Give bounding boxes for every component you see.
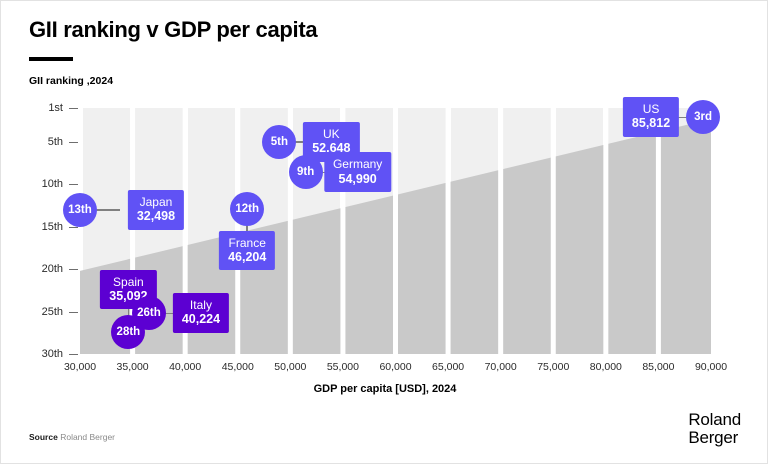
y-tick-mark bbox=[69, 354, 78, 355]
data-label-us[interactable]: US85,812 bbox=[623, 97, 679, 137]
x-tick-label: 50,000 bbox=[274, 361, 306, 373]
title-underline-rule bbox=[29, 57, 73, 61]
gdp-value: 54,990 bbox=[333, 172, 382, 187]
country-name: Japan bbox=[137, 195, 175, 209]
data-label-germany[interactable]: Germany54,990 bbox=[324, 153, 391, 193]
source-label: Source bbox=[29, 432, 58, 442]
data-label-italy[interactable]: Italy40,224 bbox=[173, 293, 229, 333]
country-name: France bbox=[228, 236, 266, 250]
y-tick-mark bbox=[69, 184, 78, 185]
column-gutter bbox=[446, 108, 451, 354]
country-name: Spain bbox=[109, 275, 147, 289]
column-gutter bbox=[551, 108, 556, 354]
gdp-value: 40,224 bbox=[182, 312, 220, 327]
country-name: Germany bbox=[333, 158, 382, 172]
column-gutter bbox=[393, 108, 398, 354]
data-label-japan[interactable]: Japan32,498 bbox=[128, 190, 184, 230]
column-gutter bbox=[498, 108, 503, 354]
x-tick-label: 35,000 bbox=[117, 361, 149, 373]
y-tick-label: 5th bbox=[3, 136, 63, 148]
brand-line-2: Berger bbox=[688, 429, 741, 447]
data-label-france[interactable]: France46,204 bbox=[219, 231, 275, 271]
y-tick-label: 1st bbox=[3, 102, 63, 114]
y-tick-label: 10th bbox=[3, 178, 63, 190]
y-tick-mark bbox=[69, 227, 78, 228]
y-tick-mark bbox=[69, 312, 78, 313]
country-name: US bbox=[632, 102, 670, 116]
x-axis-title: GDP per capita [USD], 2024 bbox=[1, 383, 768, 395]
rank-badge-uk[interactable]: 5th bbox=[262, 125, 296, 159]
gdp-value: 85,812 bbox=[632, 117, 670, 132]
rank-badge-italy[interactable]: 26th bbox=[132, 296, 166, 330]
source-value: Roland Berger bbox=[60, 432, 115, 442]
x-tick-label: 60,000 bbox=[379, 361, 411, 373]
roland-berger-logo: Roland Berger bbox=[688, 411, 741, 448]
y-axis-title: GII ranking ,2024 bbox=[29, 75, 113, 87]
gdp-value: 32,498 bbox=[137, 209, 175, 224]
y-tick-label: 20th bbox=[3, 263, 63, 275]
x-tick-label: 65,000 bbox=[432, 361, 464, 373]
plot-area: Japan32,49813thSpain35,09228thItaly40,22… bbox=[80, 108, 711, 354]
rank-badge-germany[interactable]: 9th bbox=[289, 155, 323, 189]
x-tick-label: 40,000 bbox=[169, 361, 201, 373]
x-tick-label: 55,000 bbox=[327, 361, 359, 373]
y-tick-label: 15th bbox=[3, 221, 63, 233]
brand-line-1: Roland bbox=[688, 411, 741, 429]
x-tick-label: 70,000 bbox=[485, 361, 517, 373]
rank-badge-japan[interactable]: 13th bbox=[63, 193, 97, 227]
x-tick-label: 85,000 bbox=[642, 361, 674, 373]
y-tick-label: 30th bbox=[3, 348, 63, 360]
rank-badge-us[interactable]: 3rd bbox=[686, 100, 720, 134]
y-tick-mark bbox=[69, 269, 78, 270]
country-name: UK bbox=[312, 127, 350, 141]
column-gutter bbox=[603, 108, 608, 354]
column-gutter bbox=[656, 108, 661, 354]
gdp-value: 46,204 bbox=[228, 250, 266, 265]
source-note: Source Roland Berger bbox=[29, 432, 115, 442]
country-name: Italy bbox=[182, 298, 220, 312]
x-tick-label: 45,000 bbox=[222, 361, 254, 373]
x-tick-label: 90,000 bbox=[695, 361, 727, 373]
rank-badge-france[interactable]: 12th bbox=[230, 192, 264, 226]
x-tick-label: 80,000 bbox=[590, 361, 622, 373]
y-tick-mark bbox=[69, 142, 78, 143]
x-tick-label: 75,000 bbox=[537, 361, 569, 373]
page-title: GII ranking v GDP per capita bbox=[29, 17, 317, 43]
y-tick-label: 25th bbox=[3, 306, 63, 318]
x-tick-label: 30,000 bbox=[64, 361, 96, 373]
y-tick-mark bbox=[69, 108, 78, 109]
chart-frame: GII ranking v GDP per capita GII ranking… bbox=[0, 0, 768, 464]
